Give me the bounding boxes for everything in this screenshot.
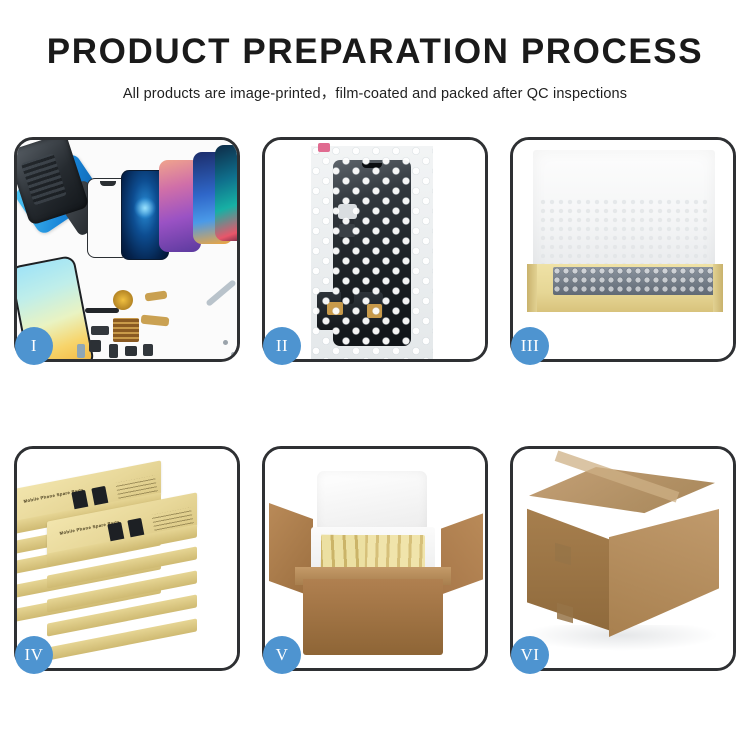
part-small-1-icon bbox=[91, 326, 109, 335]
kraft-tray-icon bbox=[527, 264, 723, 312]
carton-body-icon bbox=[303, 579, 443, 655]
gold-contact-2-icon bbox=[367, 304, 382, 318]
part-chip-grid-icon bbox=[113, 318, 139, 342]
part-coil-icon bbox=[113, 290, 133, 310]
tray-left-lip-icon bbox=[527, 264, 537, 312]
screen-driver-chip-icon bbox=[339, 224, 355, 237]
screen-connector-icon bbox=[338, 204, 357, 219]
page-title: PRODUCT PREPARATION PROCESS bbox=[0, 34, 750, 71]
step-1-image bbox=[17, 140, 237, 359]
step-badge-3: III bbox=[511, 327, 549, 365]
process-step-1: I bbox=[14, 137, 240, 362]
part-small-4-icon bbox=[125, 346, 137, 356]
bubble-wrapped-contents-icon bbox=[553, 267, 719, 295]
sealed-carton-right-face-icon bbox=[609, 509, 719, 637]
step-badge-6: VI bbox=[511, 636, 549, 674]
step-5-image bbox=[265, 449, 485, 668]
process-step-2: II bbox=[262, 137, 488, 362]
step-6-image bbox=[513, 449, 733, 668]
repair-tool-icon bbox=[205, 279, 236, 307]
step-badge-2: II bbox=[263, 327, 301, 365]
part-strip-icon bbox=[85, 308, 119, 313]
header: PRODUCT PREPARATION PROCESS All products… bbox=[0, 0, 750, 103]
carton-handle-slot-2-icon bbox=[557, 603, 573, 624]
screen-flex-cable-icon bbox=[341, 208, 354, 304]
lcd-screen-icon bbox=[333, 160, 411, 346]
part-small-6-icon bbox=[77, 344, 85, 358]
part-small-3-icon bbox=[109, 344, 118, 358]
process-step-4: Mobile Phone Spare Parts Mobile Phone Sp… bbox=[14, 446, 240, 671]
step-2-image bbox=[265, 140, 485, 359]
bubble-wrap-bag-icon bbox=[311, 146, 433, 359]
process-step-6: VI bbox=[510, 446, 736, 671]
tray-right-lip-icon bbox=[713, 264, 723, 312]
part-small-5-icon bbox=[143, 344, 153, 356]
screw-1-icon bbox=[223, 340, 228, 345]
styrofoam-lid-icon bbox=[317, 471, 427, 533]
screw-2-icon bbox=[231, 352, 236, 357]
foam-sheet-icon bbox=[533, 150, 715, 276]
part-flex-cable-1-icon bbox=[145, 291, 168, 302]
part-small-2-icon bbox=[89, 340, 101, 352]
page-subtitle: All products are image-printed，film-coat… bbox=[0, 82, 750, 103]
screen-notch-icon bbox=[362, 163, 382, 168]
part-flex-cable-2-icon bbox=[141, 315, 170, 327]
step-badge-1: I bbox=[15, 327, 53, 365]
pink-qc-tag-icon bbox=[318, 143, 330, 152]
box-stack: Mobile Phone Spare Parts Mobile Phone Sp… bbox=[17, 449, 237, 668]
teal-gradient-phone-icon bbox=[215, 145, 237, 241]
step-badge-4: IV bbox=[15, 636, 53, 674]
product-preparation-infographic: PRODUCT PREPARATION PROCESS All products… bbox=[0, 0, 750, 750]
gold-contact-1-icon bbox=[327, 302, 343, 315]
process-step-grid: I II bbox=[14, 137, 736, 693]
screen-lower-assembly-icon bbox=[317, 292, 383, 330]
step-4-image: Mobile Phone Spare Parts Mobile Phone Sp… bbox=[17, 449, 237, 668]
step-badge-5: V bbox=[263, 636, 301, 674]
process-step-3: III bbox=[510, 137, 736, 362]
process-step-5: V bbox=[262, 446, 488, 671]
step-3-image bbox=[513, 140, 733, 359]
